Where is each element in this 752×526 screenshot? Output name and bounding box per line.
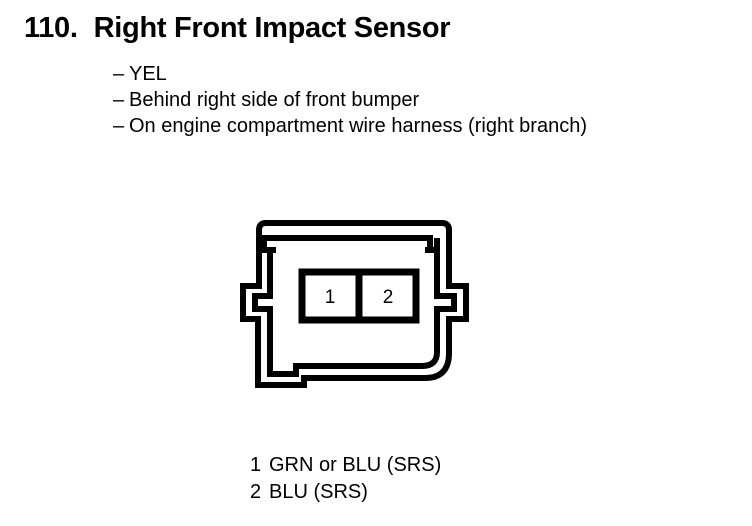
pin-1-label: 1 <box>325 287 336 308</box>
page-title-number: 110. <box>24 12 78 45</box>
pin-housing: 1 2 <box>302 272 416 320</box>
pin-legend-wire: BLU (SRS) <box>269 479 368 506</box>
detail-list-item: – Behind right side of front bumper <box>113 87 587 113</box>
detail-list-item: – YEL <box>113 61 587 87</box>
detail-list-item-label: On engine compartment wire harness (righ… <box>129 113 587 139</box>
pin-legend-number: 1 <box>250 452 269 479</box>
detail-list-item: – On engine compartment wire harness (ri… <box>113 113 587 139</box>
pin-legend-number: 2 <box>250 479 269 506</box>
detail-list-item-label: Behind right side of front bumper <box>129 87 419 113</box>
bullet-dash-icon: – <box>113 87 129 113</box>
connector-diagram: 1 2 <box>232 208 488 398</box>
bullet-dash-icon: – <box>113 61 129 87</box>
page-title-text: Right Front Impact Sensor <box>94 12 451 45</box>
pin-legend-row: 2 BLU (SRS) <box>250 479 441 506</box>
pin-legend-wire: GRN or BLU (SRS) <box>269 452 441 479</box>
pin-legend: 1 GRN or BLU (SRS) 2 BLU (SRS) <box>250 452 441 506</box>
pin-legend-row: 1 GRN or BLU (SRS) <box>250 452 441 479</box>
detail-list-item-label: YEL <box>129 61 167 87</box>
bullet-dash-icon: – <box>113 113 129 139</box>
pin-2-label: 2 <box>383 287 394 308</box>
detail-list: – YEL – Behind right side of front bumpe… <box>113 61 587 139</box>
page-title: 110. Right Front Impact Sensor <box>24 12 450 45</box>
